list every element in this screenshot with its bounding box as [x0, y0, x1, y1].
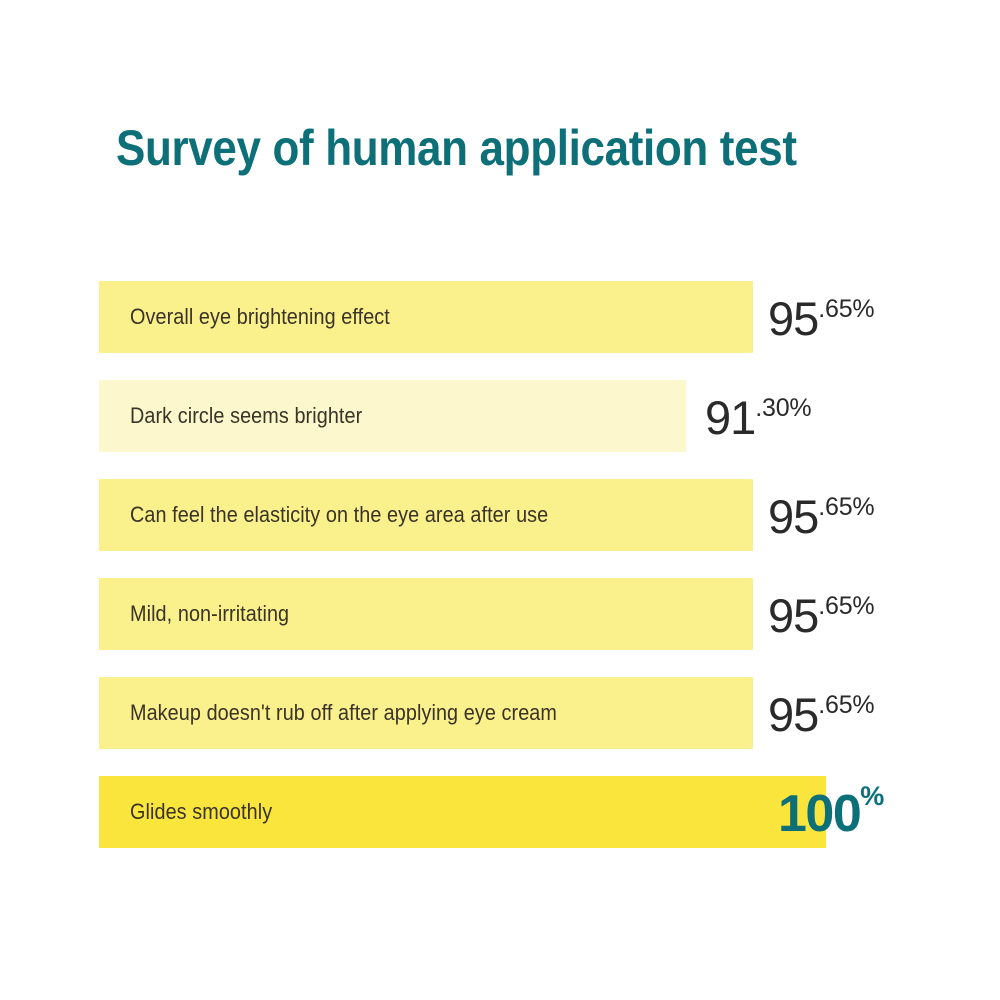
- table-row: Can feel the elasticity on the eye area …: [99, 479, 929, 551]
- bar-category-label: Makeup doesn't rub off after applying ey…: [130, 677, 557, 749]
- table-row: Dark circle seems brighter 91.30%: [99, 380, 929, 452]
- bar-value: 95.65%: [768, 578, 874, 650]
- table-row-highlighted: Glides smoothly 100%: [99, 776, 929, 848]
- value-decimal: .65%: [818, 297, 874, 322]
- bar-value: 91.30%: [705, 380, 811, 452]
- bar-category-label: Dark circle seems brighter: [130, 380, 362, 452]
- value-decimal: .65%: [818, 594, 874, 619]
- value-integer: 95: [768, 493, 818, 540]
- survey-bar-chart: Overall eye brightening effect 95.65% Da…: [99, 281, 929, 848]
- value-integer: 95: [768, 592, 818, 639]
- value-decimal: .65%: [818, 495, 874, 520]
- value-decimal: %: [860, 783, 884, 810]
- page-title: Survey of human application test: [116, 122, 797, 175]
- infographic-canvas: Survey of human application test Overall…: [0, 0, 1000, 1000]
- bar-value: 95.65%: [768, 479, 874, 551]
- bar-value: 100%: [778, 776, 884, 848]
- table-row: Overall eye brightening effect 95.65%: [99, 281, 929, 353]
- value-decimal: .65%: [818, 693, 874, 718]
- value-decimal: .30%: [755, 396, 811, 421]
- bar-category-label: Mild, non-irritating: [130, 578, 289, 650]
- bar-value: 95.65%: [768, 281, 874, 353]
- table-row: Makeup doesn't rub off after applying ey…: [99, 677, 929, 749]
- bar-category-label: Can feel the elasticity on the eye area …: [130, 479, 548, 551]
- bar-category-label: Overall eye brightening effect: [130, 281, 390, 353]
- value-integer: 91: [705, 394, 755, 441]
- bar-value: 95.65%: [768, 677, 874, 749]
- value-integer: 95: [768, 691, 818, 738]
- bar-category-label: Glides smoothly: [130, 776, 272, 848]
- table-row: Mild, non-irritating 95.65%: [99, 578, 929, 650]
- value-integer: 95: [768, 295, 818, 342]
- value-integer: 100: [778, 788, 860, 840]
